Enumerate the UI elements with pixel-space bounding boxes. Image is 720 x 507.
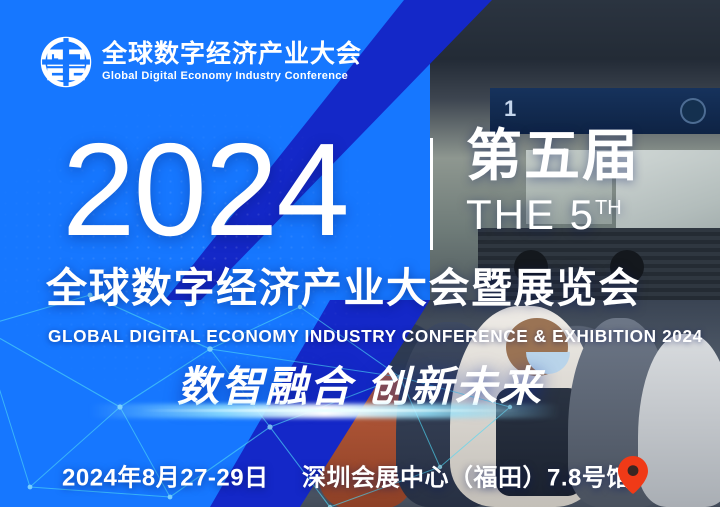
- event-venue: 深圳会展中心（福田）7.8号馆: [302, 458, 631, 493]
- event-date: 2024年8月27-29日: [62, 458, 269, 493]
- hero-block: 2024 第五届 THE 5TH: [0, 126, 720, 266]
- hero-edition: 第五届 THE 5TH: [466, 128, 640, 236]
- edition-label-cn: 第五届: [466, 128, 640, 184]
- logo-name-en: Global Digital Economy Industry Conferen…: [102, 69, 362, 83]
- hero-divider: [430, 138, 433, 250]
- map-pin-icon: [618, 456, 648, 494]
- edition-label-en: THE 5TH: [466, 194, 640, 236]
- edition-en-prefix: THE 5: [466, 191, 595, 238]
- hall-gate-number: 1: [504, 96, 517, 122]
- hero-year: 2024: [62, 124, 348, 256]
- event-info-bar: 2024年8月27-29日 深圳会展中心（福田）7.8号馆: [0, 443, 720, 507]
- slogan: 数智融合 创新未来: [0, 366, 720, 408]
- conference-poster: 1: [0, 0, 720, 507]
- event-logo: 全球数字经济产业大会 Global Digital Economy Indust…: [40, 36, 362, 88]
- main-title-cn: 全球数字经济产业大会暨展览会: [46, 268, 706, 309]
- logo-name-cn: 全球数字经济产业大会: [102, 41, 362, 67]
- edition-en-ordinal: TH: [595, 197, 622, 219]
- gde-circular-emblem-icon: [40, 36, 92, 88]
- main-title-en: GLOBAL DIGITAL ECONOMY INDUSTRY CONFEREN…: [48, 328, 698, 346]
